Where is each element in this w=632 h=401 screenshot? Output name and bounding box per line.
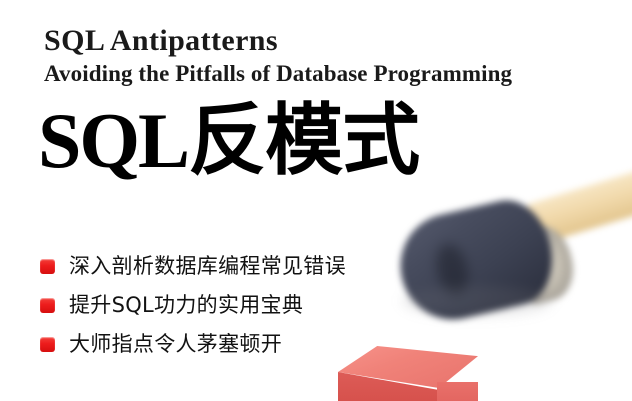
list-item-label: 大师指点令人茅塞顿开 <box>69 334 282 355</box>
english-subtitle: Avoiding the Pitfalls of Database Progra… <box>44 62 512 85</box>
list-item-label: 深入剖析数据库编程常见错误 <box>69 256 346 277</box>
list-item: 大师指点令人茅塞顿开 <box>40 325 346 364</box>
cube-right-face <box>437 382 478 401</box>
red-square-bullet-icon <box>40 298 55 313</box>
english-title: SQL Antipatterns <box>44 26 278 56</box>
list-item-label: 提升SQL功力的实用宝典 <box>69 295 303 316</box>
main-title-cjk: 反模式 <box>188 95 419 186</box>
hammer-illustration <box>382 190 632 330</box>
list-item: 提升SQL功力的实用宝典 <box>40 286 346 325</box>
main-title: SQL反模式 <box>38 102 419 180</box>
red-cube-illustration <box>338 346 478 401</box>
list-item: 深入剖析数据库编程常见错误 <box>40 247 346 286</box>
red-square-bullet-icon <box>40 337 55 352</box>
book-cover: SQL Antipatterns Avoiding the Pitfalls o… <box>0 0 632 401</box>
hammer-shadow <box>402 286 552 316</box>
feature-list: 深入剖析数据库编程常见错误 提升SQL功力的实用宝典 大师指点令人茅塞顿开 <box>40 247 346 364</box>
main-title-latin: SQL <box>38 97 188 184</box>
red-square-bullet-icon <box>40 259 55 274</box>
